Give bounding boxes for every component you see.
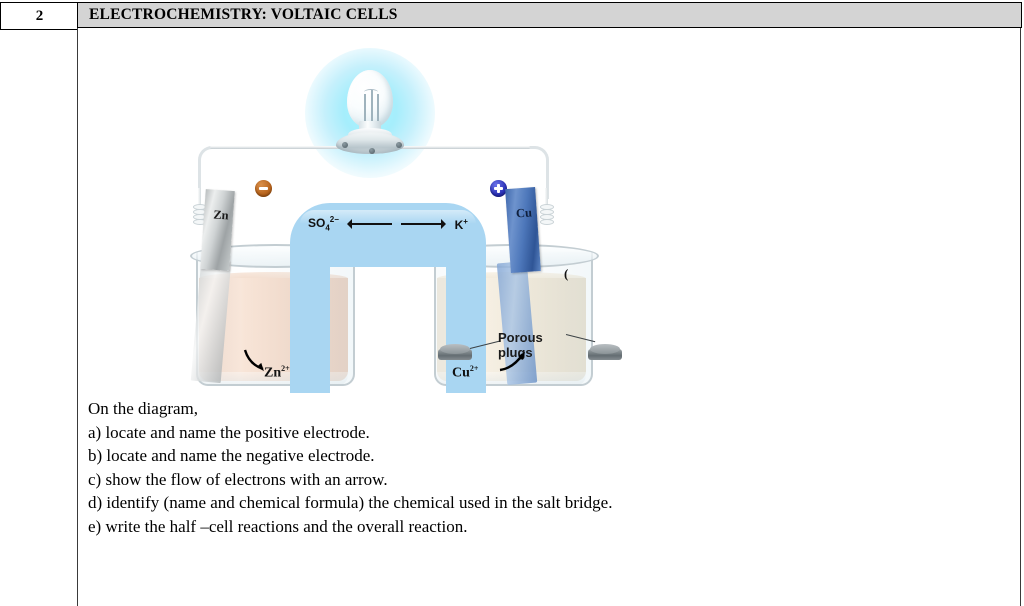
copper-electrode xyxy=(505,187,541,273)
socket-screw-icon xyxy=(396,142,402,148)
question-item-b: b) locate and name the negative electrod… xyxy=(88,445,918,468)
salt-bridge-labels: SO42− K+ xyxy=(298,214,478,234)
question-number: 2 xyxy=(36,8,44,25)
question-item-e: e) write the half –cell reactions and th… xyxy=(88,516,918,539)
worksheet-page: 2 ELECTROCHEMISTRY: VOLTAIC CELLS xyxy=(0,0,1024,606)
question-number-cell: 2 xyxy=(0,2,78,30)
wire-left-top xyxy=(210,146,340,149)
page-title: ELECTROCHEMISTRY: VOLTAIC CELLS xyxy=(78,6,398,24)
question-item-d: d) identify (name and chemical formula) … xyxy=(88,492,918,515)
copper-ion-label: Cu2+ xyxy=(452,364,478,382)
question-intro: On the diagram, xyxy=(88,398,918,421)
socket-screw-icon xyxy=(369,148,375,154)
zinc-electrode-label: Zn xyxy=(208,207,235,224)
cropped-edge-fragment: ( xyxy=(564,266,570,282)
socket-screw-icon xyxy=(342,142,348,148)
porous-plug-left xyxy=(438,344,472,362)
table-right-border xyxy=(1020,28,1021,606)
question-item-c: c) show the flow of electrons with an ar… xyxy=(88,469,918,492)
table-left-divider xyxy=(77,28,78,606)
section-title-cell: ELECTROCHEMISTRY: VOLTAIC CELLS xyxy=(77,2,1022,28)
question-text-block: On the diagram, a) locate and name the p… xyxy=(88,398,918,539)
zinc-ion-label: Zn2+ xyxy=(264,364,290,382)
wire-right-coil xyxy=(540,204,552,226)
zinc-electrode xyxy=(200,189,235,271)
header-table: 2 ELECTROCHEMISTRY: VOLTAIC CELLS xyxy=(0,2,1022,28)
bulb-glass-icon xyxy=(347,70,393,128)
salt-bridge-left-leg xyxy=(290,253,330,393)
wire-right-top xyxy=(400,146,530,149)
sulfate-ion-label: SO42− xyxy=(308,215,339,232)
anion-flow-arrow-icon xyxy=(348,223,392,225)
question-item-a: a) locate and name the positive electrod… xyxy=(88,422,918,445)
cation-flow-arrow-icon xyxy=(401,223,445,225)
copper-electrode-label: Cu xyxy=(511,205,538,222)
voltaic-cell-diagram: SO42− K+ Zn Cu Porous plugs Z xyxy=(150,38,620,398)
negative-terminal-icon xyxy=(255,180,272,197)
copper-ion-arrow-icon xyxy=(498,350,528,374)
porous-plug-right xyxy=(588,344,622,362)
potassium-ion-label: K+ xyxy=(455,217,468,232)
